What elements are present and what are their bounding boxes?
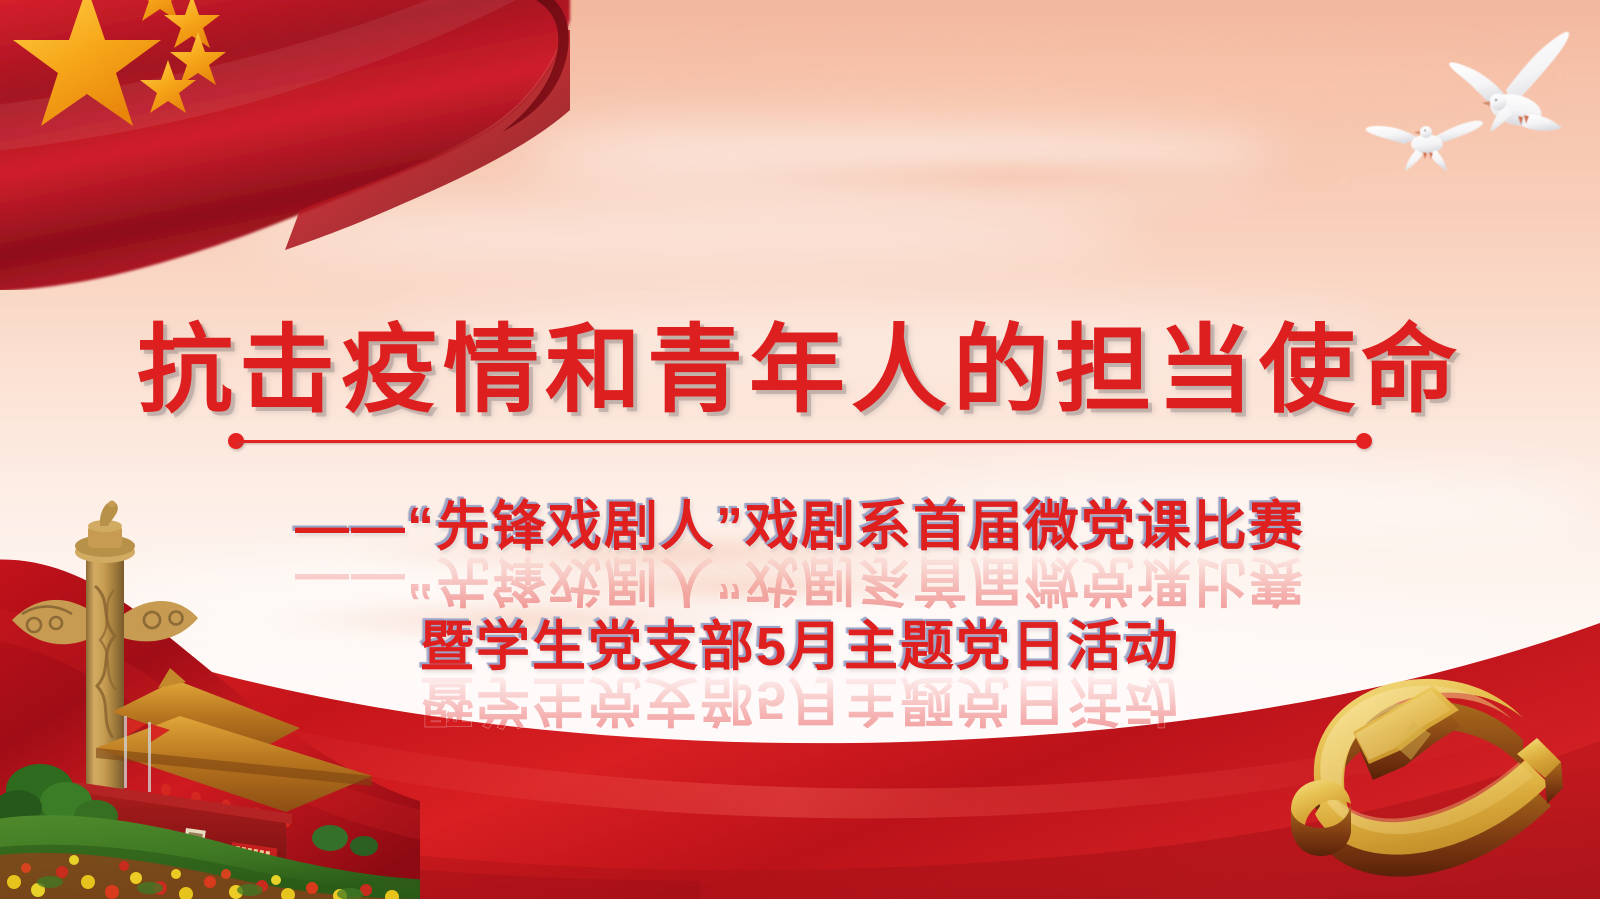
title-divider [228, 438, 1372, 444]
poster-text-block: 抗击疫情和青年人的担当使命 ——“先锋戏剧人”戏剧系首届微党课比赛 ——“先锋戏… [0, 0, 1600, 899]
divider-bar [236, 440, 1364, 443]
poster-canvas: 抗击疫情和青年人的担当使命 ——“先锋戏剧人”戏剧系首届微党课比赛 ——“先锋戏… [0, 0, 1600, 899]
divider-dot-right [1356, 433, 1372, 449]
page-title: 抗击疫情和青年人的担当使命 [0, 292, 1600, 431]
third-line-text: 暨学生党支部5月主题党日活动 [420, 617, 1180, 677]
subtitle-text: ——“先锋戏剧人”戏剧系首届微党课比赛 [295, 497, 1305, 557]
third-line: 暨学生党支部5月主题党日活动 [0, 602, 1600, 681]
subtitle-line: ——“先锋戏剧人”戏剧系首届微党课比赛 [0, 482, 1600, 561]
